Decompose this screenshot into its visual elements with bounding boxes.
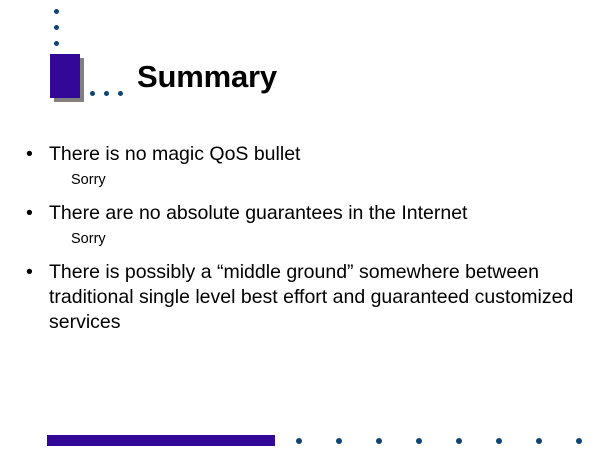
slide-title: Summary (137, 58, 277, 96)
bullet-text: There is no magic QoS bullet (49, 143, 300, 165)
slide-body: • There is no magic QoS bullet Sorry • T… (22, 142, 584, 337)
decorative-dot-icon (90, 91, 95, 96)
bullet-text: There is possibly a “middle ground” some… (49, 261, 573, 333)
decorative-dot-icon (104, 91, 109, 96)
bullet-item: • There is no magic QoS bullet (22, 142, 584, 167)
sub-bullet-item: Sorry (22, 171, 584, 190)
decorative-rectangle (50, 54, 80, 98)
bullet-marker-icon: • (26, 260, 33, 285)
decorative-dot-icon (54, 41, 59, 46)
decorative-dot-icon (54, 9, 59, 14)
presentation-slide: Summary • There is no magic QoS bullet S… (0, 0, 600, 450)
bullet-marker-icon: • (26, 201, 33, 226)
decorative-dot-icon (376, 438, 382, 444)
decorative-dot-icon (576, 438, 582, 444)
decorative-dot-icon (336, 438, 342, 444)
decorative-dot-icon (296, 438, 302, 444)
sub-bullet-item: Sorry (22, 230, 584, 249)
decorative-dot-icon (118, 91, 123, 96)
decorative-dot-icon (54, 25, 59, 30)
bullet-marker-icon: • (26, 142, 33, 167)
decorative-dot-icon (496, 438, 502, 444)
bullet-item: • There is possibly a “middle ground” so… (22, 260, 584, 335)
decorative-dot-icon (456, 438, 462, 444)
decorative-dot-icon (536, 438, 542, 444)
bullet-text: There are no absolute guarantees in the … (49, 202, 467, 224)
decorative-dot-icon (416, 438, 422, 444)
decorative-bottom-bar (47, 435, 275, 446)
sub-bullet-text: Sorry (71, 172, 106, 188)
bullet-item: • There are no absolute guarantees in th… (22, 201, 584, 226)
sub-bullet-text: Sorry (71, 231, 106, 247)
